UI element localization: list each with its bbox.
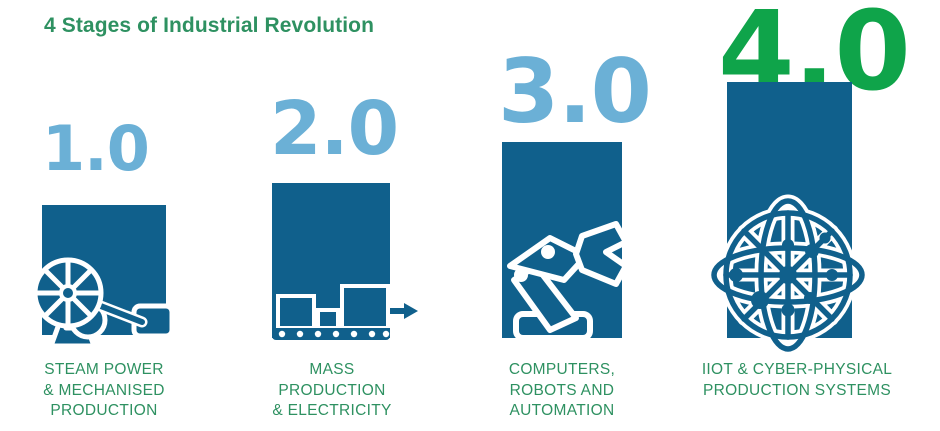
network-globe-icon — [692, 200, 884, 350]
page-title: 4 Stages of Industrial Revolution — [44, 14, 374, 38]
stage-4-caption: IIOT & CYBER-PHYSICAL PRODUCTION SYSTEMS — [672, 360, 922, 401]
stage-2-numeral: 2.0 — [270, 92, 398, 166]
conveyor-belt-icon — [268, 278, 418, 340]
robot-arm-icon — [490, 218, 650, 340]
stage-1-caption: STEAM POWER & MECHANISED PRODUCTION — [12, 360, 196, 422]
infographic-canvas: 4 Stages of Industrial Revolution 1.0 — [0, 0, 940, 431]
stage-3-caption: COMPUTERS, ROBOTS AND AUTOMATION — [472, 360, 652, 422]
steam-engine-icon — [18, 258, 174, 348]
stage-2-caption: MASS PRODUCTION & ELECTRICITY — [242, 360, 422, 422]
stage-3-numeral: 3.0 — [498, 48, 651, 136]
stage-1-numeral: 1.0 — [42, 118, 149, 180]
